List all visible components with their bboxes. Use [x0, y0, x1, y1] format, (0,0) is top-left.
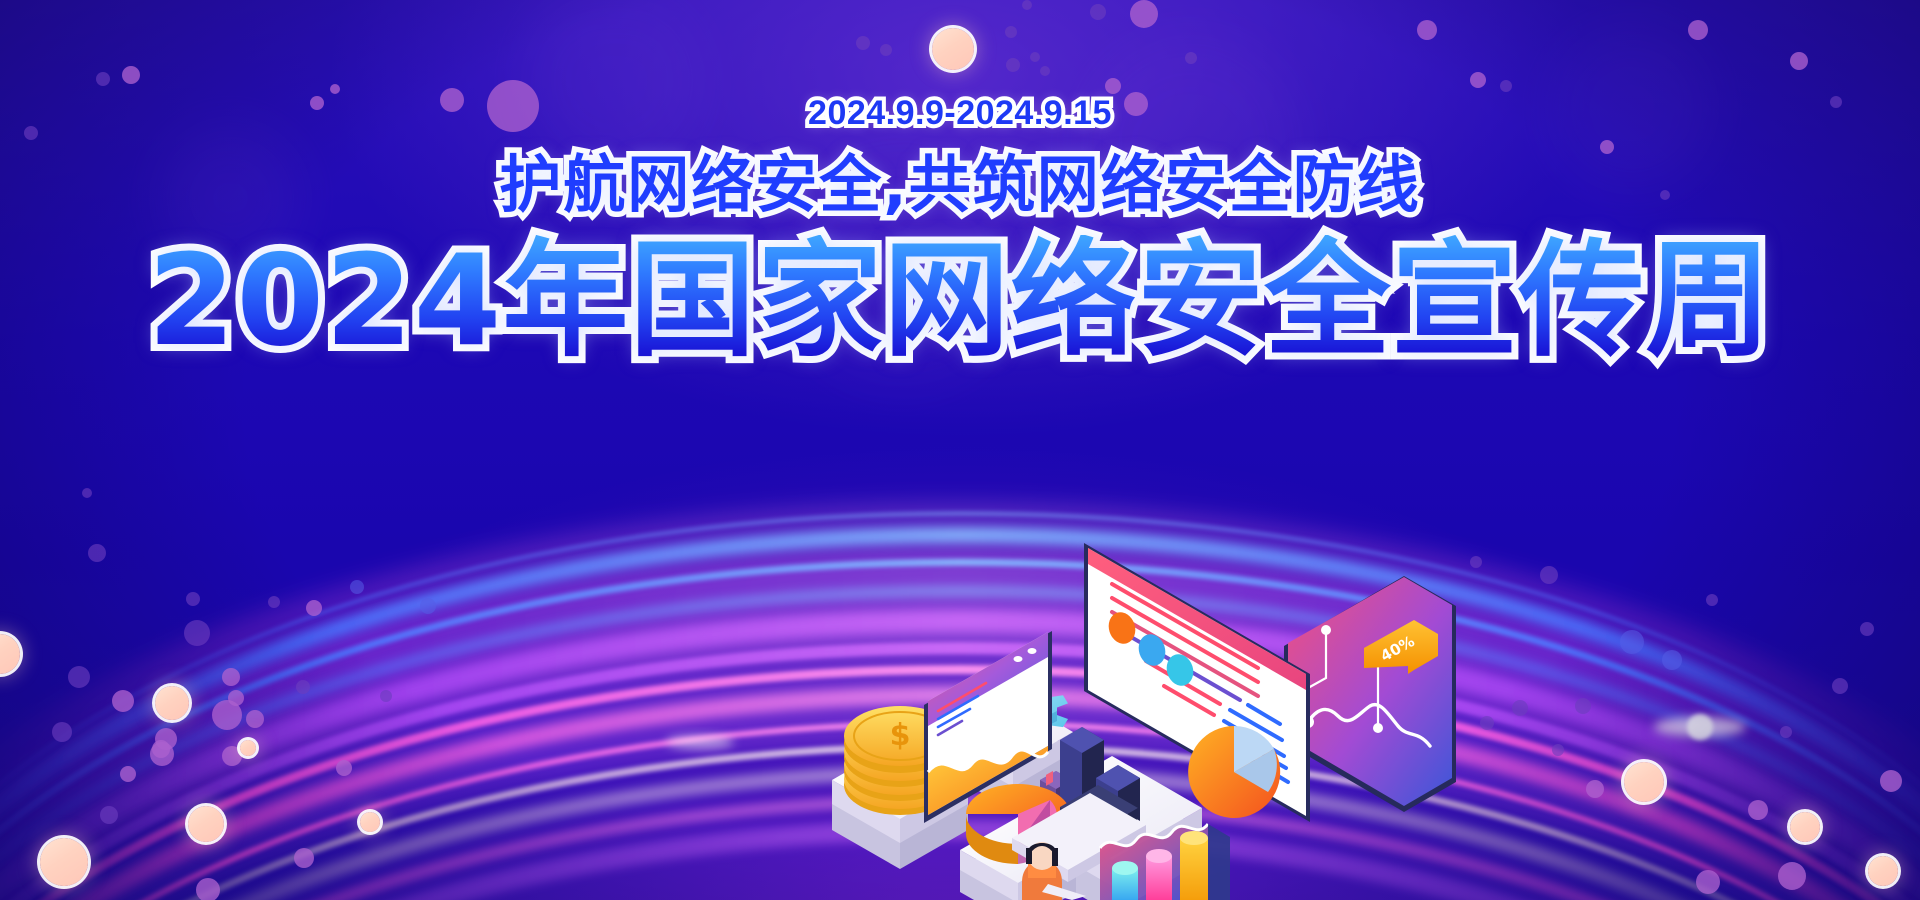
bokeh-dot: [1005, 26, 1017, 38]
bokeh-dot: [212, 700, 242, 730]
bokeh-dot: [1706, 594, 1718, 606]
bokeh-dot: [122, 66, 140, 84]
bokeh-dot: [1130, 0, 1158, 28]
bokeh-dot: [1105, 78, 1121, 94]
cylinder-orange: [1180, 831, 1208, 900]
bokeh-dot: [336, 760, 352, 776]
bokeh-dot: [1030, 52, 1040, 62]
bokeh-dot: [1748, 800, 1768, 820]
bokeh-dot: [880, 44, 892, 56]
bokeh-dot: [1512, 700, 1528, 716]
bokeh-dot: [1575, 698, 1591, 714]
bokeh-dot: [1006, 58, 1020, 72]
bokeh-dot: [1586, 780, 1604, 798]
bokeh-dot: [1778, 862, 1806, 890]
bokeh-dot: [96, 72, 110, 86]
bokeh-dot: [1860, 622, 1874, 636]
date-range-text: 2024.9.9-2024.9.15: [0, 96, 1920, 130]
bokeh-dot: [1540, 566, 1558, 584]
bokeh-dot: [420, 598, 436, 614]
bokeh-dot: [1470, 72, 1486, 88]
isometric-illustration: $: [760, 500, 1460, 900]
bokeh-dot: [932, 28, 974, 70]
bokeh-dot: [306, 600, 322, 616]
headline-block: 2024.9.9-2024.9.15 护航网络安全,共筑网络安全防线 2024年…: [0, 96, 1920, 367]
bokeh-dot: [1832, 678, 1848, 694]
main-title-text: 2024年国家网络安全宣传周: [148, 235, 1773, 367]
cylinder-pink: [1146, 849, 1172, 900]
cylinder-cyan: [1112, 861, 1138, 900]
bokeh-dot: [1880, 770, 1902, 792]
bokeh-dot: [1868, 856, 1898, 886]
bokeh-dot: [1500, 80, 1512, 92]
bokeh-dot: [120, 766, 136, 782]
bokeh-dot: [100, 806, 118, 824]
coin-symbol: $: [890, 718, 911, 753]
bokeh-dot: [68, 666, 90, 688]
bokeh-dot: [184, 620, 210, 646]
bokeh-dot: [1790, 52, 1808, 70]
bokeh-dot: [240, 740, 256, 756]
bokeh-dot: [88, 544, 106, 562]
bokeh-dot: [1040, 66, 1050, 76]
subtitle-text: 护航网络安全,共筑网络安全防线: [0, 152, 1920, 217]
bokeh-dot: [152, 740, 170, 758]
bokeh-dot: [1780, 726, 1792, 738]
bokeh-dot: [222, 668, 240, 686]
bokeh-dot: [1688, 20, 1708, 40]
bokeh-dot: [1022, 0, 1032, 10]
bokeh-dot: [1790, 812, 1820, 842]
bokeh-dot: [856, 36, 870, 50]
pie-chart-monitor: [1188, 726, 1280, 818]
bokeh-dot: [222, 746, 242, 766]
bokeh-dot: [1552, 744, 1564, 756]
bokeh-dot: [186, 592, 200, 606]
bokeh-dot: [330, 84, 340, 94]
bokeh-dot: [1480, 716, 1494, 730]
bokeh-dot: [360, 812, 380, 832]
bokeh-dot: [1417, 20, 1437, 40]
bokeh-dot: [155, 686, 189, 720]
bokeh-dot: [1620, 630, 1644, 654]
bokeh-dot: [196, 878, 220, 900]
bokeh-dot: [112, 690, 134, 712]
main-title-wrap: 2024年国家网络安全宣传周 2024年国家网络安全宣传周: [148, 235, 1773, 367]
bokeh-dot: [1662, 650, 1682, 670]
bokeh-dot: [40, 838, 88, 886]
bokeh-dot: [1624, 762, 1664, 802]
bokeh-dot: [268, 596, 280, 608]
bokeh-dot: [82, 488, 92, 498]
bokeh-dot: [1090, 4, 1106, 20]
bokeh-dot: [188, 806, 224, 842]
bokeh-dot: [1696, 870, 1720, 894]
bokeh-dot: [294, 848, 314, 868]
bokeh-dot: [0, 634, 20, 674]
bokeh-dot: [350, 580, 364, 594]
bokeh-dot: [1470, 556, 1482, 568]
bokeh-dot: [52, 722, 72, 742]
bokeh-dot: [246, 710, 264, 728]
bokeh-dot: [1185, 52, 1197, 64]
security-week-banner: 2024.9.9-2024.9.15 护航网络安全,共筑网络安全防线 2024年…: [0, 0, 1920, 900]
bokeh-dot: [296, 680, 310, 694]
bokeh-dot: [380, 690, 392, 702]
